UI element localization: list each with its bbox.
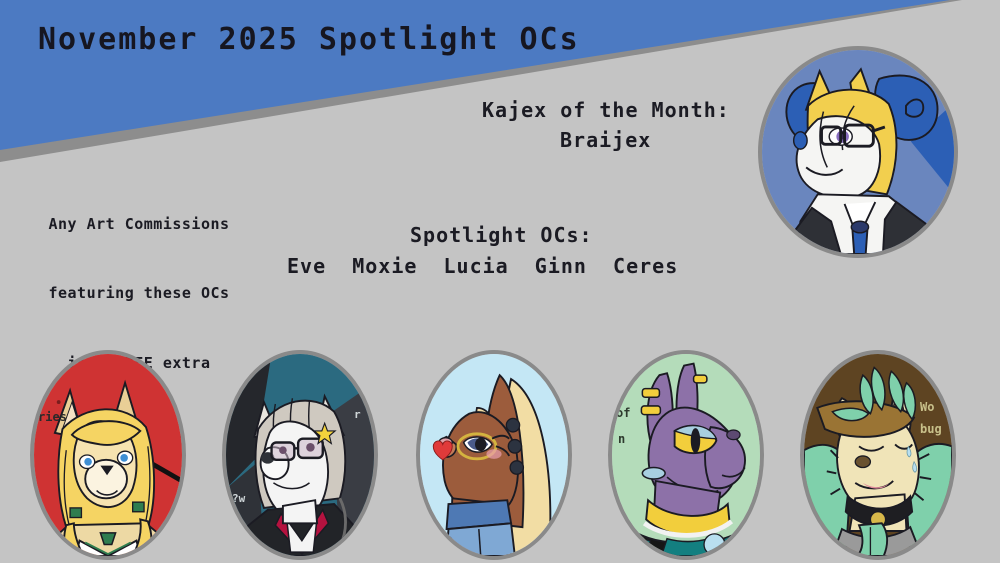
kajex-of-the-month-label: Kajex of the Month:	[482, 97, 730, 124]
spotlight-label: Spotlight OCs:	[410, 222, 593, 249]
promo-line-2: featuring these OCs	[8, 282, 270, 305]
eve-artwork	[34, 354, 182, 556]
ginn-overlay-text-2: n	[618, 432, 625, 448]
ceres-overlay-text-2: bug	[920, 422, 942, 438]
moxie-overlay-text-right: r	[354, 408, 361, 422]
portrait-eve[interactable]: ries	[30, 350, 186, 560]
ginn-overlay-text-1: of	[616, 406, 630, 422]
kajex-of-the-month-name: Braijex	[560, 127, 651, 154]
promo-line-1: Any Art Commissions	[8, 213, 270, 236]
ceres-overlay-text-1: Wo	[920, 400, 934, 416]
lucia-artwork	[420, 354, 568, 556]
portrait-lucia[interactable]	[416, 350, 572, 560]
ceres-artwork	[804, 354, 952, 556]
portrait-ceres[interactable]: Wo bug	[800, 350, 956, 560]
portrait-moxie[interactable]: ?w r	[222, 350, 378, 560]
moxie-artwork	[226, 354, 374, 556]
moxie-overlay-text-left: ?w	[232, 492, 245, 506]
spotlight-names: Eve Moxie Lucia Ginn Ceres	[287, 253, 678, 280]
ginn-artwork	[612, 354, 760, 556]
page-title: November 2025 Spotlight OCs	[38, 20, 580, 61]
eve-overlay-text: ries	[38, 410, 67, 426]
braijex-artwork	[762, 50, 954, 254]
portrait-braijex[interactable]	[758, 46, 958, 258]
portrait-ginn[interactable]: of n	[608, 350, 764, 560]
spotlight-poster: November 2025 Spotlight OCs Any Art Comm…	[0, 0, 1000, 563]
